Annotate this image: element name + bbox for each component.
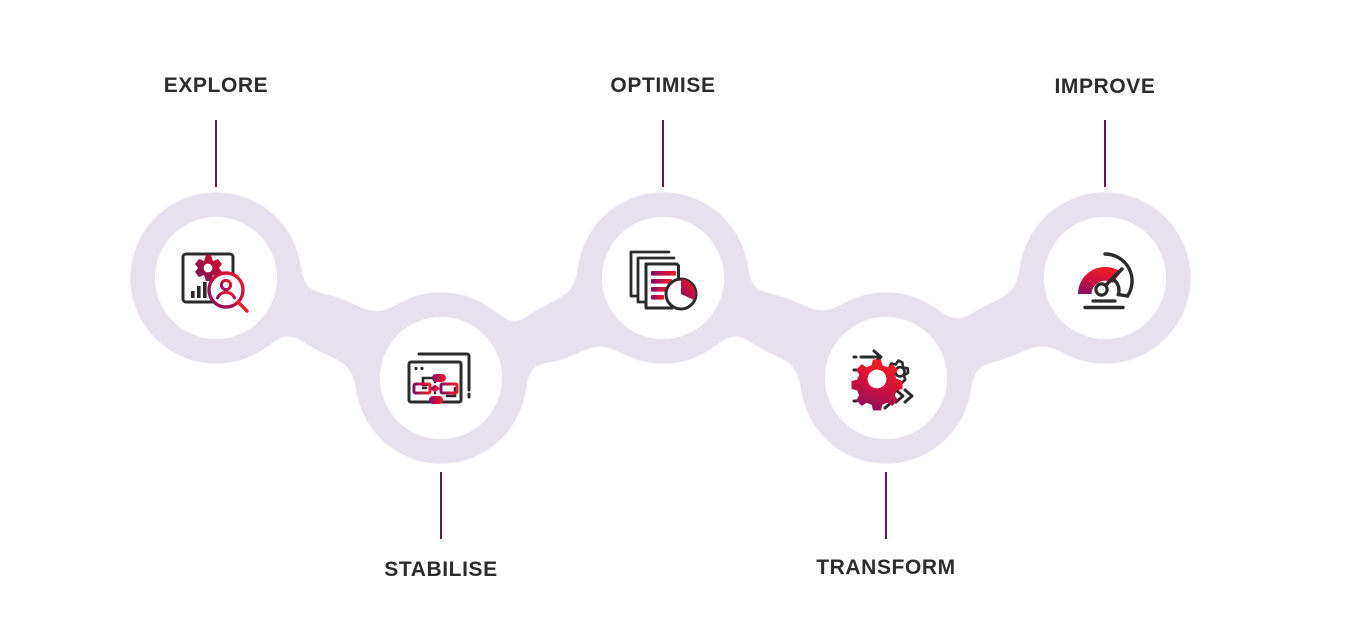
step-label-improve: IMPROVE — [1054, 76, 1155, 97]
icon-well-explore — [155, 217, 277, 339]
connector-line-explore — [215, 120, 217, 187]
flowchart-nodes-icon — [401, 338, 481, 418]
documents-pie-chart-icon — [623, 238, 703, 318]
connector-line-improve — [1104, 120, 1106, 187]
report-gear-magnifier-person-icon — [176, 238, 256, 318]
icon-well-improve — [1044, 217, 1166, 339]
step-label-stabilise: STABILISE — [384, 559, 498, 580]
icon-well-transform — [825, 317, 947, 439]
icon-well-optimise — [602, 217, 724, 339]
infographic-canvas: EXPLORE STABILISE OPTIMISE TRANSFORM IMP… — [0, 0, 1365, 630]
gears-arrows-icon — [846, 338, 926, 418]
step-label-transform: TRANSFORM — [816, 557, 956, 578]
connector-line-optimise — [662, 120, 664, 187]
speedometer-gauge-icon — [1065, 238, 1145, 318]
connector-line-stabilise — [440, 472, 442, 539]
step-label-explore: EXPLORE — [164, 75, 269, 96]
icon-well-stabilise — [380, 317, 502, 439]
connector-line-transform — [885, 472, 887, 539]
step-label-optimise: OPTIMISE — [610, 75, 715, 96]
